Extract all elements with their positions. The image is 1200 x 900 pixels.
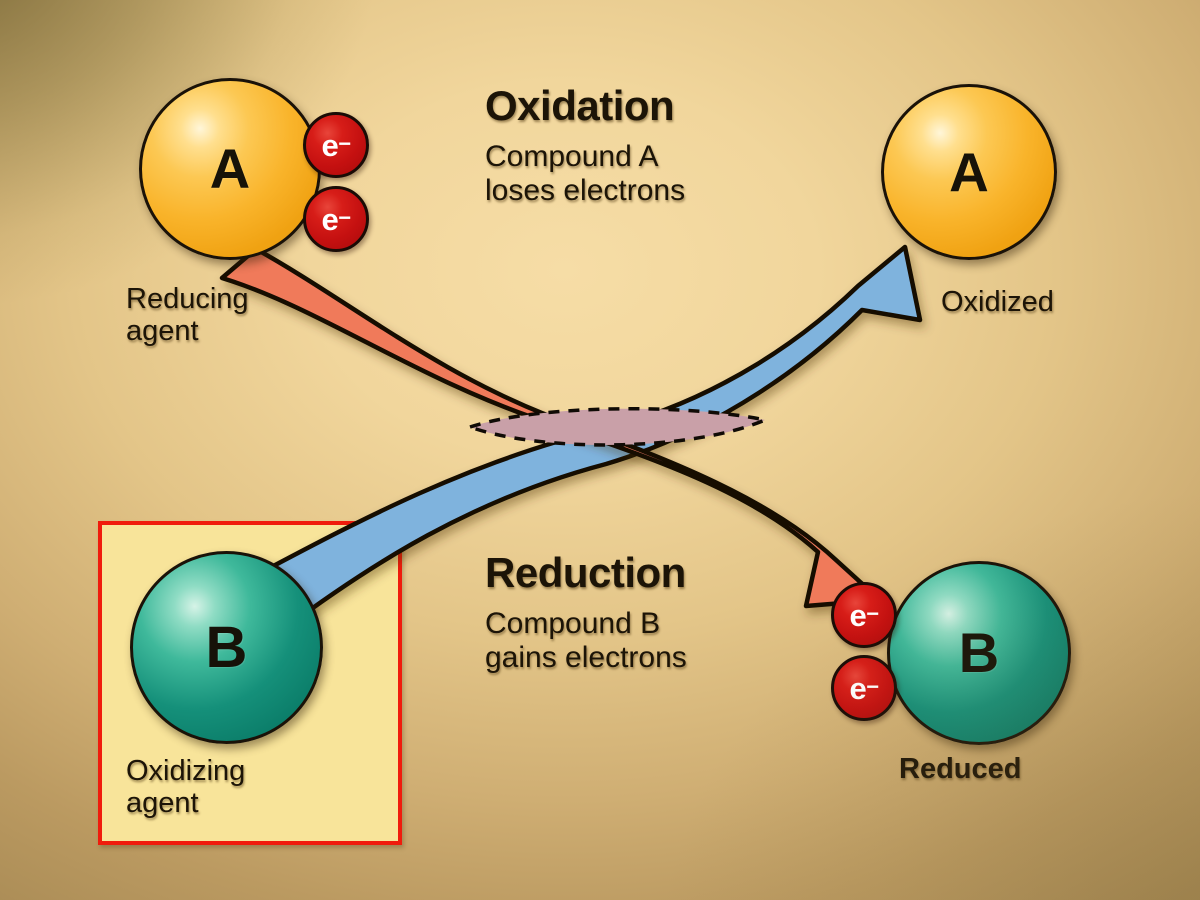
compound-b-reduced[interactable]: B [887, 561, 1071, 745]
oxidation-title: Oxidation [485, 82, 674, 129]
electron-icon-a-2[interactable]: e− [303, 186, 369, 252]
electron-label: e− [321, 204, 350, 235]
oxidation-description: Compound A loses electrons [485, 140, 685, 207]
compound-b-oxidizing-agent[interactable]: B [130, 551, 323, 744]
crossing-lens [470, 409, 765, 445]
compound-b-glyph: B [206, 619, 248, 677]
oxidizing-agent-label: Oxidizing agent [126, 755, 245, 820]
reduction-title: Reduction [485, 549, 686, 596]
redox-diagram: A A B B e− e− e− e− Oxidation Compound A… [0, 0, 1200, 900]
reduction-description: Compound B gains electrons [485, 607, 687, 674]
reduced-label: Reduced [899, 753, 1021, 785]
compound-a-oxidized-glyph: A [949, 145, 989, 200]
compound-a-oxidized[interactable]: A [881, 84, 1057, 260]
electron-icon-b-2[interactable]: e− [831, 655, 897, 721]
compound-a-glyph: A [210, 141, 250, 197]
electron-icon-a-1[interactable]: e− [303, 112, 369, 178]
electron-icon-b-1[interactable]: e− [831, 582, 897, 648]
compound-a-reducing-agent[interactable]: A [139, 78, 321, 260]
electron-label: e− [321, 130, 350, 161]
reducing-agent-label: Reducing agent [126, 283, 249, 348]
electron-label: e− [849, 600, 878, 631]
oxidized-label: Oxidized [941, 286, 1054, 318]
compound-b-reduced-glyph: B [959, 625, 999, 681]
electron-label: e− [849, 673, 878, 704]
